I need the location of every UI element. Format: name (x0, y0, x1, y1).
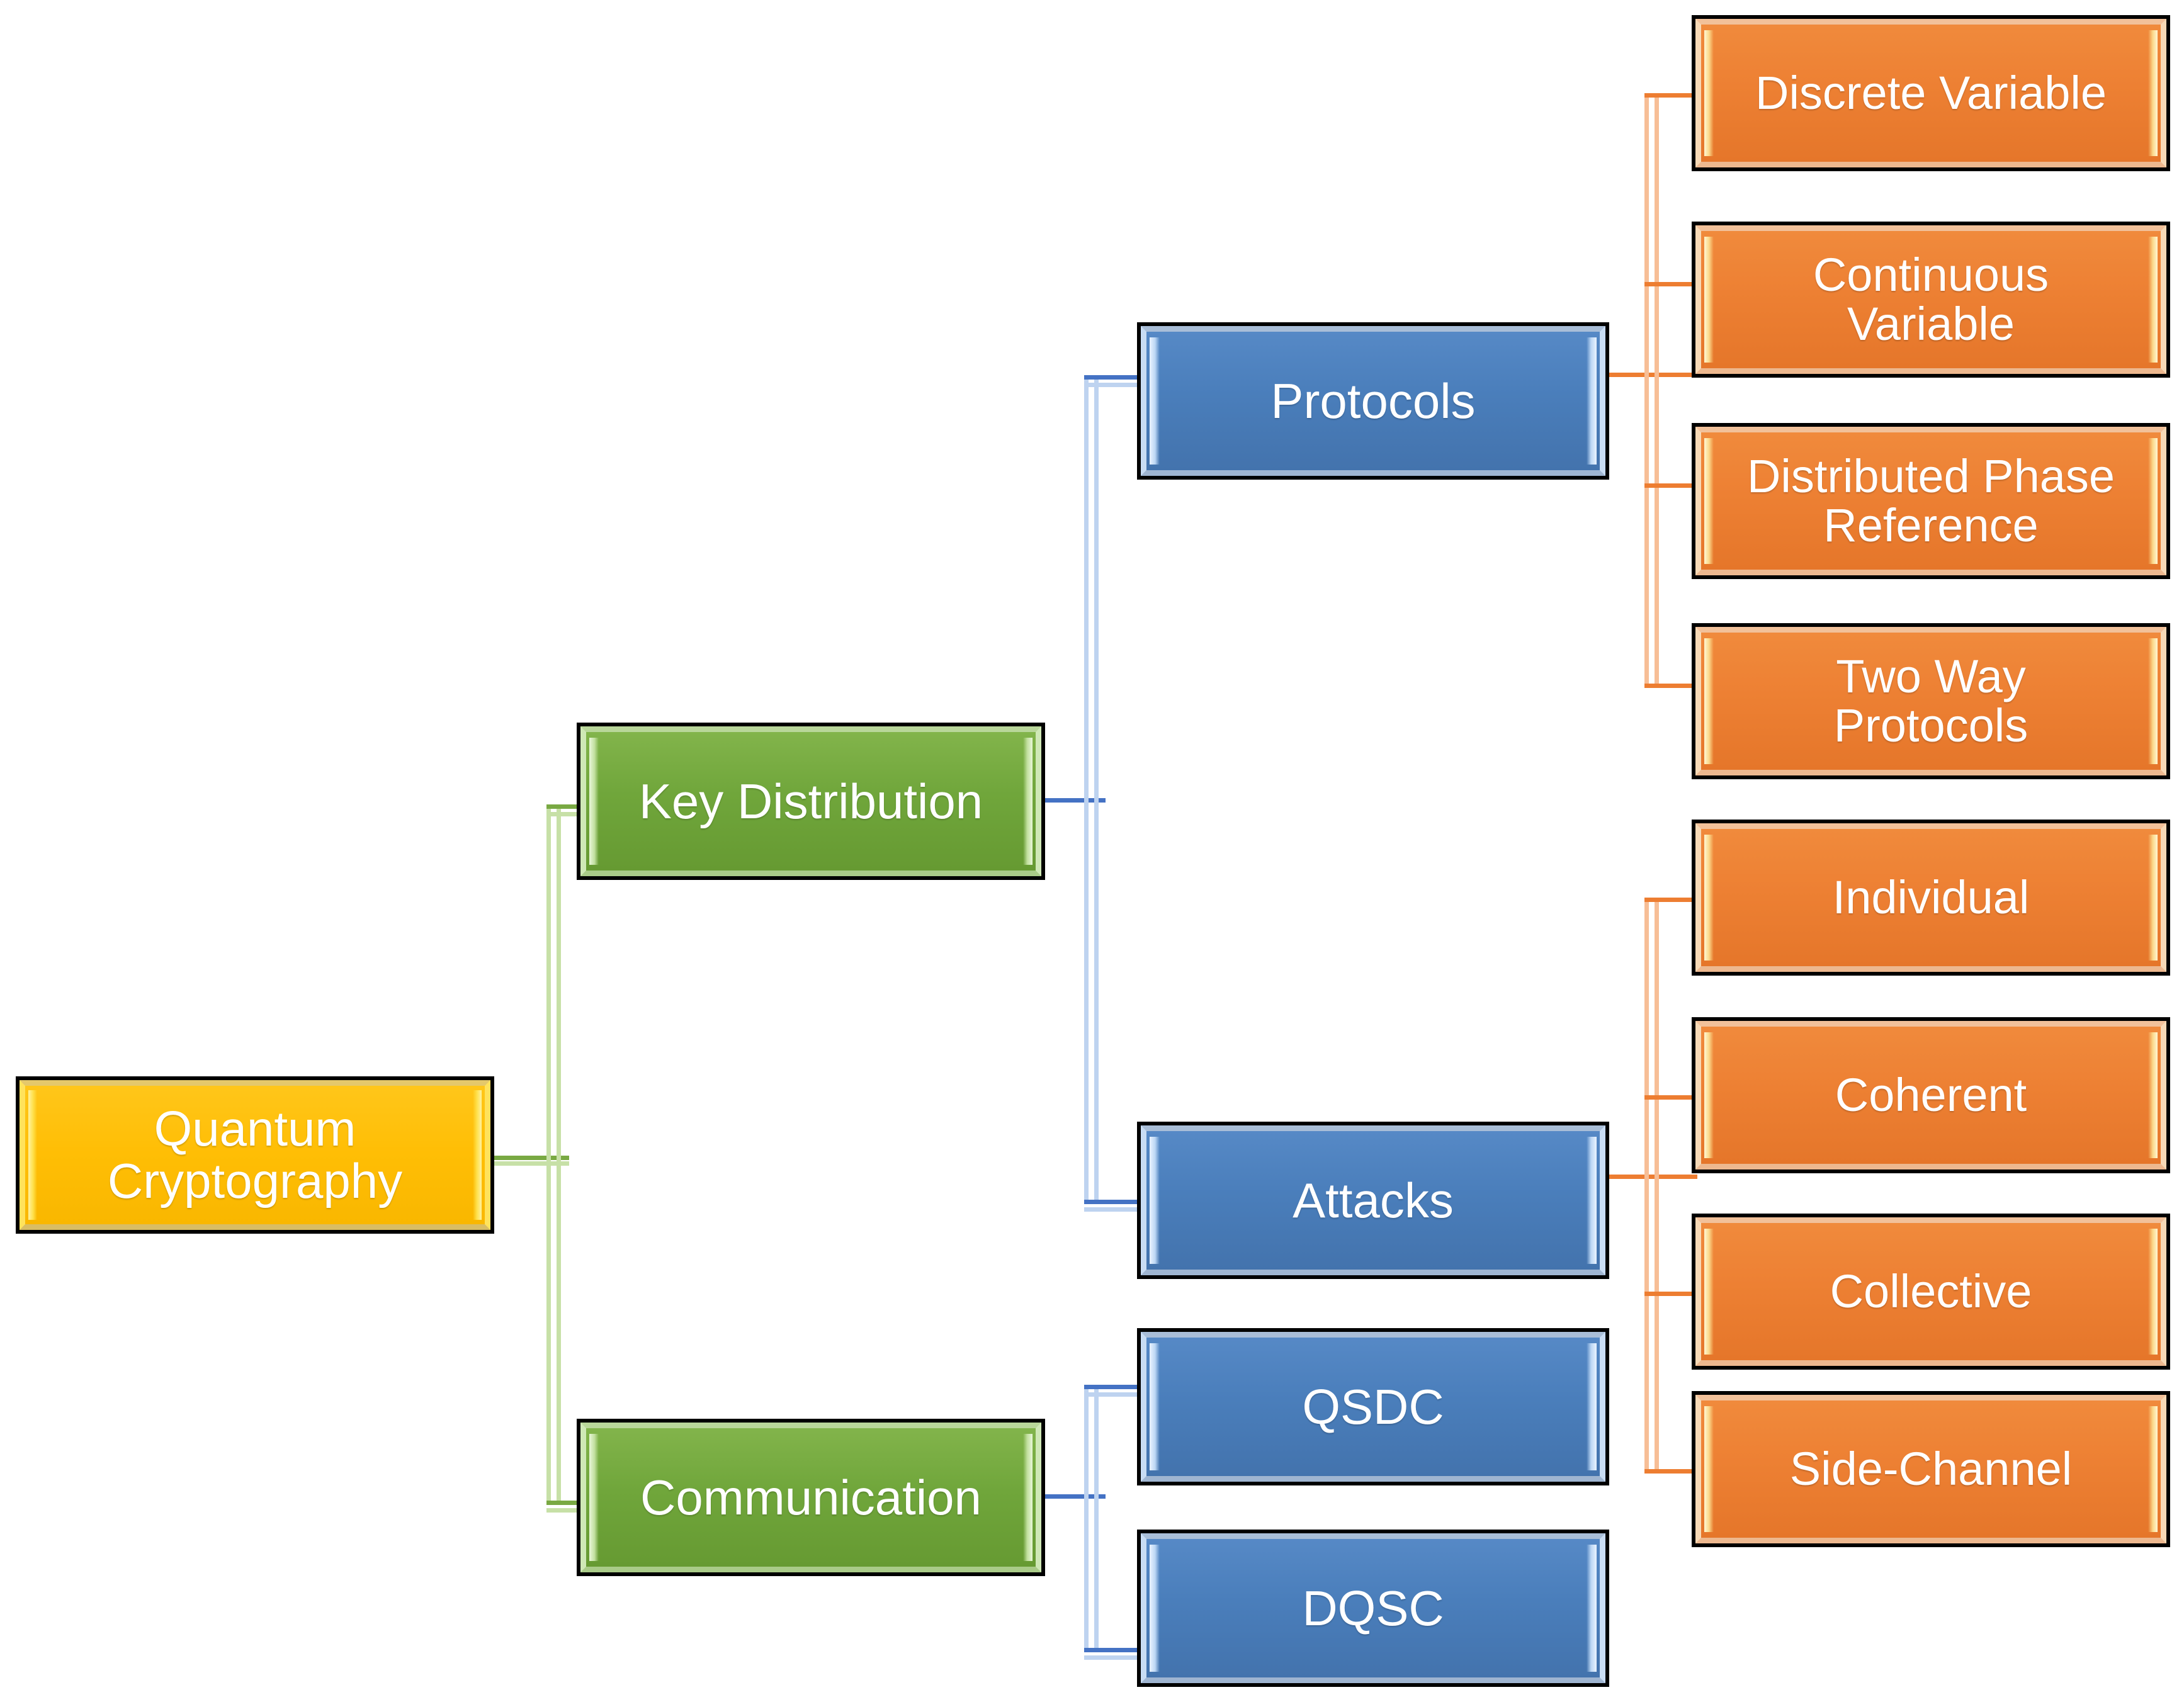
node-key-distribution[interactable]: Key Distribution (577, 723, 1045, 880)
node-bevel-left (1704, 30, 1714, 156)
node-label: QSDC (1286, 1381, 1460, 1433)
node-bevel-left (1704, 835, 1714, 961)
connector-orange-trunk-lower (1644, 900, 1649, 1473)
node-label: Side-Channel (1774, 1445, 2088, 1494)
connector-to-attacks (1084, 1200, 1140, 1204)
node-bevel-right (1587, 1137, 1597, 1264)
leaf-individual[interactable]: Individual (1692, 820, 2170, 976)
node-communication[interactable]: Communication (577, 1419, 1045, 1576)
connector-to-protocols (1084, 375, 1140, 380)
node-bevel-left (1704, 237, 1714, 363)
node-bevel-right (2148, 1229, 2158, 1355)
connector-to-protocols-shadow (1084, 383, 1140, 387)
node-bevel-left (1704, 1229, 1714, 1355)
connector-orange-trunk-upper (1644, 96, 1649, 687)
node-root-quantum-cryptography[interactable]: Quantum Cryptography (16, 1076, 494, 1234)
root-bevel-left (28, 1090, 37, 1220)
node-label: Attacks (1276, 1175, 1470, 1227)
leaf-coherent[interactable]: Coherent (1692, 1017, 2170, 1173)
connector-blue-trunk (1084, 378, 1089, 1203)
node-bevel-left (589, 1434, 599, 1561)
node-bevel-right (1023, 1434, 1033, 1561)
node-bevel-left (1704, 1032, 1714, 1158)
connector-green-trunk (546, 807, 551, 1504)
connector-orange-trunk-lower-2 (1655, 900, 1659, 1473)
leaf-distributed-phase-reference[interactable]: Distributed Phase Reference (1692, 423, 2170, 579)
node-label: Collective (1814, 1267, 2049, 1316)
connector-orange-trunk-upper-2 (1655, 96, 1659, 687)
leaf-collective[interactable]: Collective (1692, 1214, 2170, 1370)
node-bevel-left (1704, 638, 1714, 764)
node-bevel-left (589, 738, 599, 865)
node-bevel-right (1587, 1343, 1597, 1470)
node-bevel-right (2148, 1032, 2158, 1158)
node-bevel-left (1704, 1406, 1714, 1532)
node-label: Two Way Protocols (1818, 652, 2044, 751)
node-bevel-left (1150, 337, 1160, 465)
node-dqsc[interactable]: DQSC (1137, 1530, 1609, 1687)
node-bevel-right (2148, 638, 2158, 764)
leaf-discrete-variable[interactable]: Discrete Variable (1692, 15, 2170, 171)
node-label: Key Distribution (623, 775, 999, 828)
node-bevel-left (1150, 1343, 1160, 1470)
node-label: Individual (1816, 873, 2046, 922)
node-bevel-right (1023, 738, 1033, 865)
node-bevel-right (2148, 30, 2158, 156)
connector-protocols-stub (1609, 373, 1697, 377)
node-label: Protocols (1254, 375, 1491, 427)
connector-to-dqsc (1084, 1648, 1140, 1652)
connector-green-trunk-2 (557, 807, 561, 1504)
connector-to-qsdc-shadow (1084, 1392, 1140, 1397)
node-bevel-right (1587, 1545, 1597, 1672)
diagram-canvas: Quantum Cryptography Key Distribution Co… (0, 0, 2184, 1702)
root-bevel-right (473, 1090, 482, 1220)
node-label: Distributed Phase Reference (1731, 452, 2131, 551)
node-label: Continuous Variable (1797, 251, 2065, 349)
node-bevel-right (2148, 237, 2158, 363)
node-label: Coherent (1819, 1071, 2043, 1120)
connector-blue-trunk-comm (1084, 1387, 1089, 1652)
leaf-continuous-variable[interactable]: Continuous Variable (1692, 222, 2170, 378)
node-bevel-right (1587, 337, 1597, 465)
leaf-side-channel[interactable]: Side-Channel (1692, 1391, 2170, 1547)
connector-blue-trunk-2 (1094, 378, 1099, 1203)
leaf-two-way-protocols[interactable]: Two Way Protocols (1692, 623, 2170, 779)
node-label: Discrete Variable (1739, 69, 2123, 118)
connector-blue-trunk-comm-2 (1094, 1387, 1099, 1652)
connector-attacks-stub (1609, 1175, 1697, 1179)
node-bevel-left (1704, 438, 1714, 564)
node-qsdc[interactable]: QSDC (1137, 1328, 1609, 1485)
node-bevel-left (1150, 1137, 1160, 1264)
node-label: Quantum Cryptography (91, 1103, 419, 1207)
node-label: DQSC (1286, 1582, 1460, 1635)
connector-to-qsdc (1084, 1385, 1140, 1389)
node-label: Communication (624, 1472, 998, 1524)
node-bevel-left (1150, 1545, 1160, 1672)
node-protocols[interactable]: Protocols (1137, 322, 1609, 480)
node-bevel-right (2148, 1406, 2158, 1532)
connector-to-dqsc-shadow (1084, 1655, 1140, 1660)
node-bevel-right (2148, 835, 2158, 961)
node-bevel-right (2148, 438, 2158, 564)
node-attacks[interactable]: Attacks (1137, 1122, 1609, 1279)
connector-to-attacks-shadow (1084, 1207, 1140, 1212)
